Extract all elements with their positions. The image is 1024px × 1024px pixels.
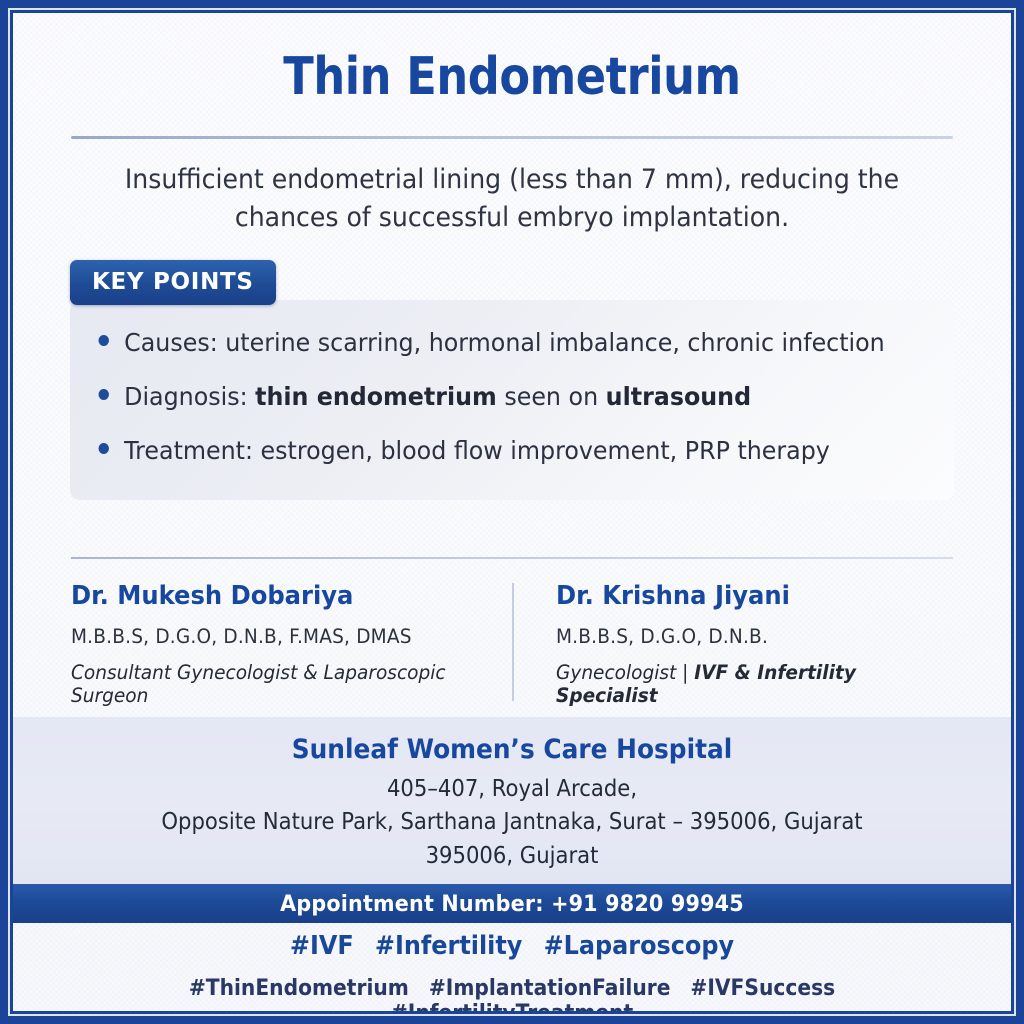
appointment-number: Appointment Number: +91 9820 99945	[280, 891, 744, 917]
key-points-list: Causes: uterine scarring, hormonal imbal…	[70, 300, 954, 500]
list-item: Causes: uterine scarring, hormonal imbal…	[70, 328, 910, 357]
hashtags-secondary: #ThinEndometrium #ImplantationFailure #I…	[53, 976, 971, 1011]
hashtag-ivf[interactable]: #IVF	[290, 931, 354, 961]
list-item: Treatment: estrogen, blood flow improvem…	[70, 436, 910, 465]
page-title: Thin Endometrium	[83, 47, 941, 107]
hashtags-primary: #IVF #Infertility #Laparoscopy	[53, 931, 971, 961]
doctor-role: Consultant Gynecologist & Laparoscopic S…	[71, 661, 458, 707]
key-point-causes: Causes: uterine scarring, hormonal imbal…	[124, 328, 885, 357]
clinic-address-line-1: 405–407, Royal Arcade,	[53, 773, 971, 806]
hashtag-infertility[interactable]: #Infertility	[375, 931, 522, 961]
poster-canvas: Thin Endometrium Insufficient endometria…	[13, 13, 1011, 1011]
hashtag-ivfsuccess[interactable]: #IVFSuccess	[690, 976, 835, 1001]
doctor-role: Gynecologist | IVF & Infertility Special…	[556, 661, 956, 707]
appointment-bar[interactable]: Appointment Number: +91 9820 99945	[13, 884, 1011, 923]
doctors-vertical-divider	[512, 583, 514, 701]
doctor-qualifications: M.B.B.S, D.G.O, D.N.B.	[556, 625, 956, 648]
hashtag-implantationfailure[interactable]: #ImplantationFailure	[429, 976, 671, 1001]
doctor-name: Dr. Krishna Jiyani	[556, 581, 956, 611]
doctor-qualifications: M.B.B.S, D.G.O, D.N.B, F.MAS, DMAS	[71, 625, 458, 648]
diagnosis-term: thin endometrium	[255, 382, 497, 411]
infographic-poster: Thin Endometrium Insufficient endometria…	[0, 0, 1024, 1024]
key-point-diagnosis: Diagnosis: thin endometrium seen on ultr…	[124, 382, 751, 411]
bullet-dot-icon	[99, 389, 109, 400]
clinic-name: Sunleaf Women’s Care Hospital	[53, 734, 971, 765]
clinic-address-line-2: Opposite Nature Park, Sarthana Jantnaka,…	[53, 806, 971, 839]
list-item: Diagnosis: thin endometrium seen on ultr…	[70, 382, 910, 411]
diagnosis-prefix: Diagnosis:	[124, 382, 255, 411]
doctor-card-1: Dr. Mukesh Dobariya M.B.B.S, D.G.O, D.N.…	[13, 581, 512, 707]
page-subtitle: Insufficient endometrial lining (less th…	[118, 161, 907, 236]
doctor-name: Dr. Mukesh Dobariya	[71, 581, 458, 611]
diagnosis-mid: seen on	[497, 382, 606, 411]
bullet-dot-icon	[99, 443, 109, 454]
hashtag-thinendometrium[interactable]: #ThinEndometrium	[189, 976, 409, 1001]
divider-top	[71, 136, 953, 139]
bullet-dot-icon	[99, 335, 109, 346]
diagnosis-method: ultrasound	[606, 382, 751, 411]
clinic-address-panel: Sunleaf Women’s Care Hospital 405–407, R…	[13, 717, 1011, 884]
key-points-badge: KEY POINTS	[70, 260, 276, 305]
clinic-address-line-3: 395006, Gujarat	[53, 840, 971, 873]
key-point-treatment: Treatment: estrogen, blood flow improvem…	[124, 436, 830, 465]
hashtag-infertilitytreatment[interactable]: #InfertilityTreatment	[391, 1001, 633, 1011]
doctor-card-2: Dr. Krishna Jiyani M.B.B.S, D.G.O, D.N.B…	[512, 581, 1011, 707]
doctor-role-plain: Gynecologist |	[556, 661, 694, 684]
divider-middle	[71, 557, 953, 559]
hashtag-laparoscopy[interactable]: #Laparoscopy	[544, 931, 734, 961]
